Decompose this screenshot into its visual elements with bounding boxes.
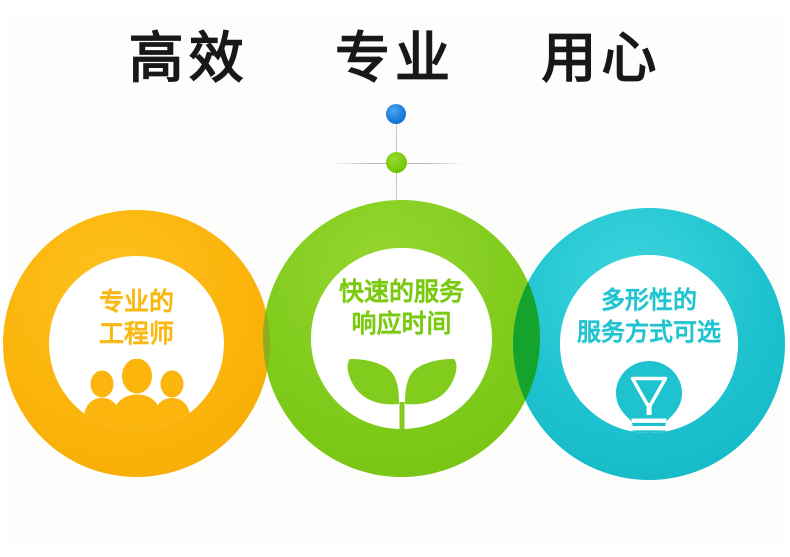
- card-response-time-line2: 响应时间: [311, 308, 492, 340]
- card-service-modes-icon-slot: [560, 361, 738, 433]
- blue-dot-marker-icon: [386, 104, 406, 124]
- sprout-leaf-icon: [339, 357, 465, 429]
- headline-segment-3: 用心: [541, 26, 661, 90]
- light-bulb-icon: [607, 361, 691, 433]
- card-service-modes: 多形性的 服务方式可选: [560, 255, 738, 433]
- card-engineers: 专业的 工程师: [49, 256, 224, 431]
- card-engineers-icon-slot: [49, 359, 224, 431]
- card-service-modes-text: 多形性的 服务方式可选: [560, 284, 738, 348]
- card-service-modes-line2: 服务方式可选: [560, 316, 738, 348]
- headline-segment-1: 高效: [129, 26, 249, 90]
- page-title: 高效 专业 用心: [0, 26, 790, 90]
- card-engineers-text: 专业的 工程师: [49, 286, 224, 350]
- people-group-icon: [78, 359, 196, 431]
- headline-segment-2: 专业: [335, 26, 455, 90]
- card-response-time-text: 快速的服务 响应时间: [311, 276, 492, 340]
- card-response-time: 快速的服务 响应时间: [311, 248, 492, 429]
- card-engineers-line2: 工程师: [49, 318, 224, 350]
- card-response-time-icon-slot: [311, 357, 492, 429]
- card-service-modes-line1: 多形性的: [601, 286, 697, 314]
- infographic-canvas: 高效 专业 用心 专业的 工程师: [0, 0, 790, 557]
- green-dot-marker-icon: [386, 152, 407, 173]
- card-response-time-line1: 快速的服务: [339, 277, 464, 306]
- card-engineers-line1: 专业的: [99, 287, 174, 316]
